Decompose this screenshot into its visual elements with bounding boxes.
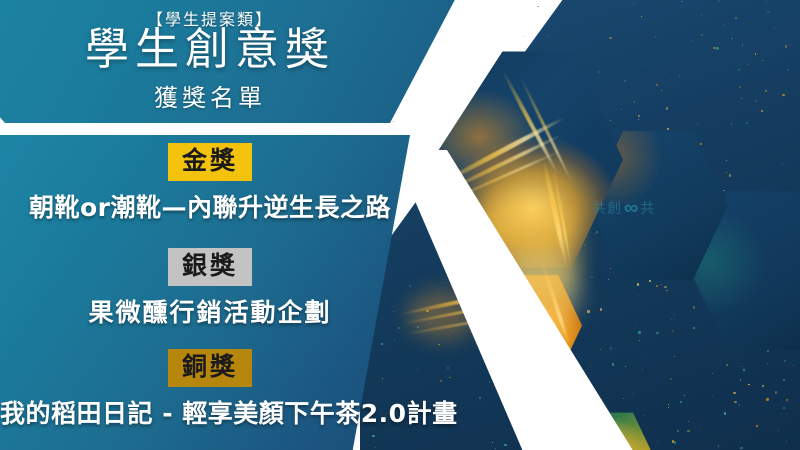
page-subtitle: 獲獎名單 — [0, 78, 420, 113]
content-layer: 【學生提案類】 學生創意獎 獲獎名單 金獎 朝靴or潮靴—內聯升逆生長之路 銀獎… — [0, 0, 420, 450]
badge-silver: 銀獎 — [168, 248, 252, 286]
infinity-icon: ∞ — [624, 198, 638, 218]
logo-subtext: · · · · — [594, 216, 624, 221]
award-entry-bronze: 我的稻田日記 - 輕享美顏下午茶2.0計畫 — [0, 394, 420, 430]
award-entry-silver: 果微醺行銷活動企劃 — [0, 293, 420, 329]
logo-text-right: 共 — [640, 198, 655, 218]
badge-bronze: 銅獎 — [168, 349, 252, 387]
award-group-bronze: 銅獎 我的稻田日記 - 輕享美顏下午茶2.0計畫 — [0, 349, 420, 430]
logo-text-left: 共創 — [592, 198, 622, 218]
page-title: 學生創意獎 — [0, 26, 420, 74]
award-group-gold: 金獎 朝靴or潮靴—內聯升逆生長之路 — [0, 143, 420, 224]
badge-gold: 金獎 — [168, 143, 252, 181]
award-entry-gold: 朝靴or潮靴—內聯升逆生長之路 — [0, 188, 420, 224]
brand-logo: 共創 ∞ 共 — [592, 198, 655, 218]
award-group-silver: 銀獎 果微醺行銷活動企劃 — [0, 248, 420, 329]
slide-canvas: 共創 ∞ 共 · · · · 【學生提案類】 學生創意獎 獲獎名單 金獎 朝靴o… — [0, 0, 800, 450]
